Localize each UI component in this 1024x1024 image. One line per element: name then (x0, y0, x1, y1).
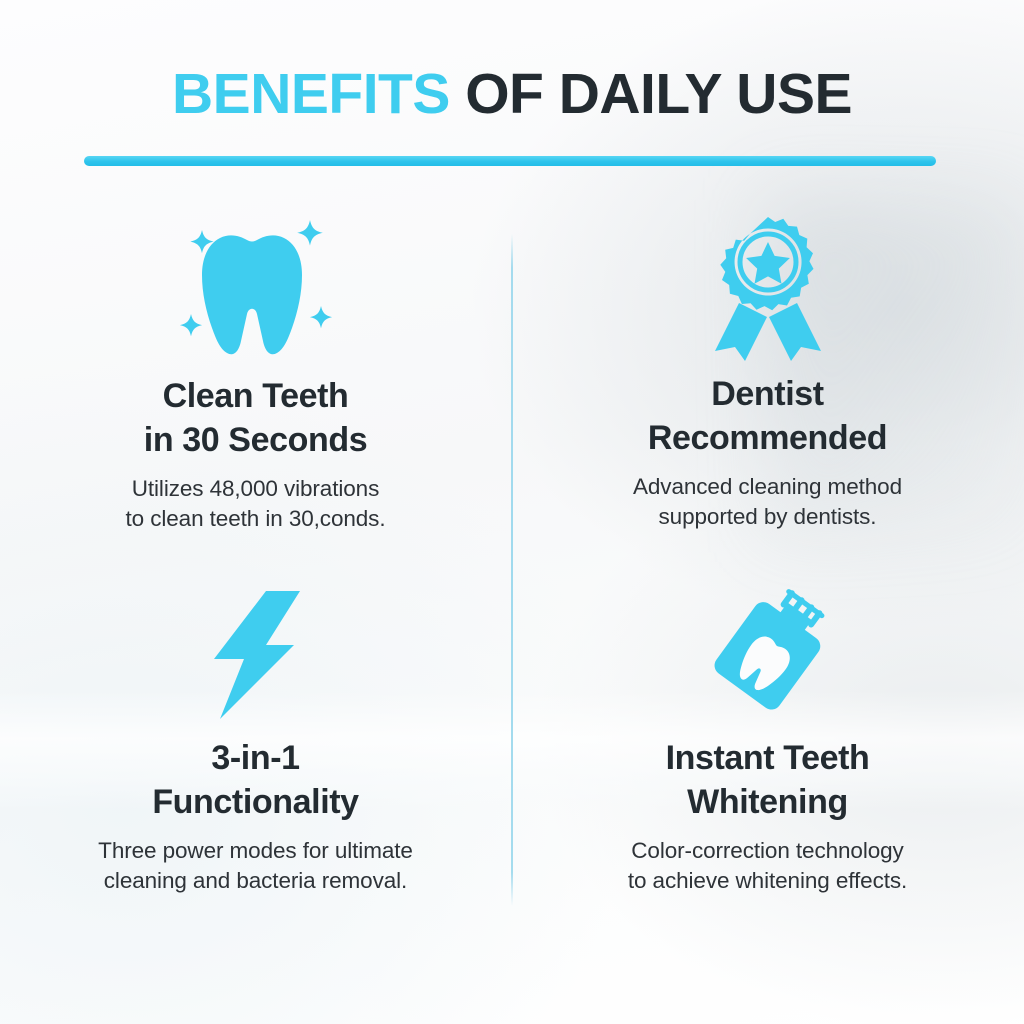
benefit-description: Advanced cleaning method supported by de… (633, 472, 902, 532)
page-title: BENEFITS OF DAILY USE (0, 66, 1024, 123)
benefit-title-line1: 3-in-1 (152, 737, 358, 781)
benefit-desc-line2: cleaning and bacteria removal. (98, 866, 413, 896)
benefit-card-three-in-one: 3-in-1 Functionality Three power modes f… (0, 565, 511, 925)
benefit-desc-line2: supported by dentists. (633, 502, 902, 532)
benefit-title: Clean Teeth in 30 Seconds (144, 375, 367, 462)
benefit-title-line1: Clean Teeth (144, 375, 367, 419)
benefit-description: Three power modes for ultimate cleaning … (98, 836, 413, 896)
header: BENEFITS OF DAILY USE (0, 66, 1024, 123)
benefit-title-line2: Recommended (648, 417, 887, 461)
benefit-desc-line1: Utilizes 48,000 vibrations (126, 474, 386, 504)
benefit-title-line1: Instant Teeth (666, 737, 870, 781)
benefit-desc-line1: Color-correction technology (628, 836, 907, 866)
benefit-title: 3-in-1 Functionality (152, 737, 358, 824)
benefit-title: Dentist Recommended (648, 373, 887, 460)
infographic-page: BENEFITS OF DAILY USE (0, 0, 1024, 1024)
benefit-description: Utilizes 48,000 vibrations to clean teet… (126, 474, 386, 534)
toothpaste-tube-icon (701, 579, 835, 731)
lightning-bolt-icon (204, 579, 308, 731)
benefit-title-line1: Dentist (648, 373, 887, 417)
benefit-title-line2: in 30 Seconds (144, 419, 367, 463)
benefit-title: Instant Teeth Whitening (666, 737, 870, 824)
benefits-grid: Clean Teeth in 30 Seconds Utilizes 48,00… (0, 205, 1024, 925)
tooth-sparkle-icon (166, 213, 346, 363)
benefit-desc-line1: Three power modes for ultimate (98, 836, 413, 866)
benefit-card-dentist-recommended: Dentist Recommended Advanced cleaning me… (511, 205, 1024, 565)
award-ribbon-icon (693, 211, 843, 361)
benefit-desc-line2: to achieve whitening effects. (628, 866, 907, 896)
benefit-title-line2: Whitening (666, 781, 870, 825)
page-title-rest: OF DAILY USE (450, 62, 852, 126)
benefit-card-clean-teeth: Clean Teeth in 30 Seconds Utilizes 48,00… (0, 205, 511, 565)
benefit-desc-line1: Advanced cleaning method (633, 472, 902, 502)
benefit-title-line2: Functionality (152, 781, 358, 825)
title-underline-bar (84, 156, 936, 166)
benefit-card-instant-whitening: Instant Teeth Whitening Color-correction… (511, 565, 1024, 925)
page-title-highlight: BENEFITS (172, 62, 450, 126)
benefit-description: Color-correction technology to achieve w… (628, 836, 907, 896)
benefit-desc-line2: to clean teeth in 30,conds. (126, 504, 386, 534)
